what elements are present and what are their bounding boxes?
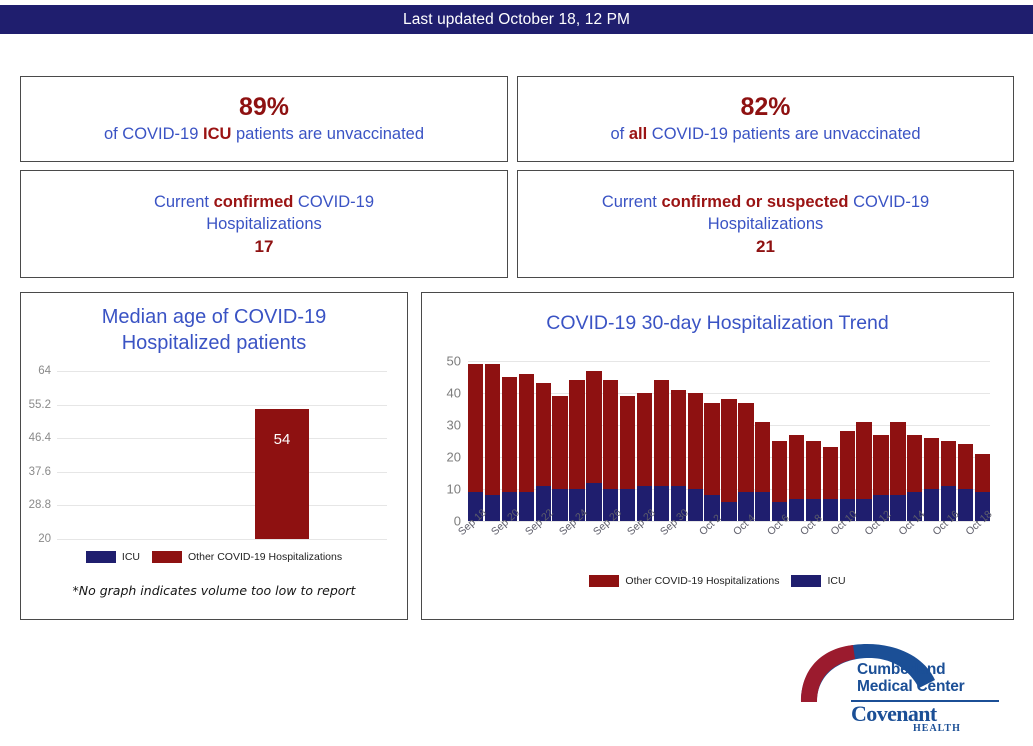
median-age-chart-title: Median age of COVID-19 Hospitalized pati…: [21, 293, 407, 356]
all-unvaccinated-label: of all COVID-19 patients are unvaccinate…: [610, 123, 920, 145]
bar-segment-other: [620, 396, 635, 489]
bar-segment-other: [468, 364, 483, 492]
trend-bars: [468, 361, 990, 521]
text-before: of: [610, 125, 628, 143]
trend-bar: [637, 393, 652, 521]
y-axis-tick-label: 30: [447, 418, 461, 433]
trend-bar: [772, 441, 787, 521]
trend-bar: [856, 422, 871, 521]
legend-swatch: [86, 551, 116, 563]
text-bold: all: [629, 125, 647, 143]
title-line1: Median age of COVID-19: [21, 305, 407, 331]
median-age-chart-panel: Median age of COVID-19 Hospitalized pati…: [20, 292, 408, 620]
hospitalization-trend-panel: COVID-19 30-day Hospitalization Trend 01…: [421, 292, 1014, 620]
bar-segment-other: [840, 431, 855, 498]
legend-entry: ICU: [791, 575, 845, 587]
bar-segment-other: [569, 380, 584, 489]
gridline: 64: [57, 371, 387, 372]
trend-bar: [688, 393, 703, 521]
trend-bar: [620, 396, 635, 521]
trend-x-axis-labels: Sep 18Sep 20Sep 22Sep 24Sep 26Sep 28Sep …: [468, 525, 990, 581]
trend-bar: [552, 396, 567, 521]
logo-name-line1: Cumberland: [857, 662, 1002, 679]
last-updated-banner: Last updated October 18, 12 PM: [0, 5, 1033, 34]
bar-segment-icu: [721, 502, 736, 521]
text-after: COVID-19: [848, 193, 929, 211]
bar-segment-other: [789, 435, 804, 499]
y-axis-tick-label: 28.8: [29, 499, 51, 511]
trend-bar: [755, 422, 770, 521]
bar-segment-other: [688, 393, 703, 489]
median-age-legend: ICUOther COVID-19 Hospitalizations: [21, 551, 407, 563]
trend-bar: [823, 447, 838, 521]
all-unvaccinated-value: 82%: [740, 93, 790, 122]
text-before: Current: [602, 193, 662, 211]
x-axis-slot: Oct 8: [806, 525, 821, 581]
x-axis-slot: Oct 10: [840, 525, 855, 581]
dashboard-page: Last updated October 18, 12 PM 89% of CO…: [0, 0, 1033, 746]
legend-entry: Other COVID-19 Hospitalizations: [152, 551, 342, 563]
x-axis-slot: Oct 6: [772, 525, 787, 581]
y-axis-tick-label: 40: [447, 386, 461, 401]
stat-card-confirmed-hospitalizations: Current confirmed COVID-19 Hospitalizati…: [20, 170, 508, 278]
bar-segment-other: [721, 399, 736, 501]
x-axis-slot: Sep 28: [637, 525, 652, 581]
x-axis-slot: Sep 30: [671, 525, 686, 581]
trend-chart-title: COVID-19 30-day Hospitalization Trend: [422, 293, 1013, 336]
text-before: of COVID-19: [104, 125, 203, 143]
x-axis-slot: Oct 2: [704, 525, 719, 581]
text-bold: ICU: [203, 125, 231, 143]
legend-label: Other COVID-19 Hospitalizations: [188, 551, 342, 563]
suspected-label-line2: Hospitalizations: [708, 213, 824, 235]
last-updated-text: Last updated October 18, 12 PM: [403, 11, 630, 29]
title-line2: Hospitalized patients: [21, 331, 407, 357]
y-axis-tick-label: 20: [38, 533, 51, 545]
trend-bar: [721, 399, 736, 521]
gridline: 28.8: [57, 505, 387, 506]
x-axis-slot: Sep 20: [502, 525, 517, 581]
bar-segment-other: [519, 374, 534, 492]
stat-card-all-unvaccinated: 82% of all COVID-19 patients are unvacci…: [517, 76, 1014, 162]
bar-segment-icu: [789, 499, 804, 521]
bar-segment-other: [704, 403, 719, 496]
bar-segment-other: [806, 441, 821, 499]
legend-entry: Other COVID-19 Hospitalizations: [589, 575, 779, 587]
trend-bar: [924, 438, 939, 521]
x-axis-slot: Sep 26: [603, 525, 618, 581]
bar-segment-other: [941, 441, 956, 486]
median-age-bar: 54: [255, 409, 309, 539]
trend-bar: [569, 380, 584, 521]
text-bold: confirmed or suspected: [661, 193, 848, 211]
trend-bar: [671, 390, 686, 521]
y-axis-tick-label: 37.6: [29, 466, 51, 478]
legend-label: Other COVID-19 Hospitalizations: [625, 575, 779, 587]
trend-bar: [468, 364, 483, 521]
trend-bar: [873, 435, 888, 521]
gridline: 55.2: [57, 405, 387, 406]
legend-entry: ICU: [86, 551, 140, 563]
trend-bar: [738, 403, 753, 521]
x-axis-slot: Sep 18: [468, 525, 483, 581]
confirmed-label-line1: Current confirmed COVID-19: [154, 191, 374, 213]
bar-segment-other: [755, 422, 770, 492]
x-axis-slot: Sep 22: [536, 525, 551, 581]
covenant-health-logo: Cumberland Medical Center Covenant HEALT…: [795, 640, 1000, 740]
trend-bar: [603, 380, 618, 521]
median-age-plot-area: 2028.837.646.455.26454: [57, 371, 387, 539]
trend-bar: [958, 444, 973, 521]
bar-segment-other: [485, 364, 500, 495]
text-bold: confirmed: [214, 193, 294, 211]
x-axis-slot: Oct 4: [738, 525, 753, 581]
x-axis-slot: Oct 16: [941, 525, 956, 581]
trend-plot-area: 01020304050: [468, 361, 990, 521]
legend-label: ICU: [122, 551, 140, 563]
x-axis-slot: Oct 14: [907, 525, 922, 581]
trend-legend: Other COVID-19 HospitalizationsICU: [422, 575, 1013, 587]
bar-segment-other: [654, 380, 669, 486]
bar-segment-icu: [755, 492, 770, 521]
text-after: COVID-19 patients are unvaccinated: [647, 125, 920, 143]
text-after: patients are unvaccinated: [231, 125, 424, 143]
bar-segment-other: [603, 380, 618, 489]
bar-segment-icu: [519, 492, 534, 521]
y-axis-tick-label: 10: [447, 482, 461, 497]
bar-segment-other: [975, 454, 990, 492]
y-axis-tick-label: 55.2: [29, 399, 51, 411]
stat-card-confirmed-or-suspected-hospitalizations: Current confirmed or suspected COVID-19 …: [517, 170, 1014, 278]
legend-swatch: [791, 575, 821, 587]
trend-bar: [536, 383, 551, 521]
bar-segment-other: [873, 435, 888, 496]
bar-segment-other: [907, 435, 922, 493]
trend-bar: [704, 403, 719, 521]
gridline: 20: [57, 539, 387, 540]
x-axis-slot: Oct 18: [975, 525, 990, 581]
bar-segment-icu: [485, 495, 500, 521]
confirmed-label-line2: Hospitalizations: [206, 213, 322, 235]
x-axis-slot: Oct 12: [873, 525, 888, 581]
legend-swatch: [152, 551, 182, 563]
icu-unvaccinated-value: 89%: [239, 93, 289, 122]
y-axis-tick-label: 20: [447, 450, 461, 465]
x-axis-slot: Sep 24: [569, 525, 584, 581]
bar-segment-other: [856, 422, 871, 499]
suspected-count: 21: [756, 237, 775, 257]
bar-segment-other: [772, 441, 787, 502]
bar-segment-other: [586, 371, 601, 483]
gridline: 37.6: [57, 472, 387, 473]
bar-segment-other: [823, 447, 838, 498]
confirmed-count: 17: [255, 237, 274, 257]
trend-bar: [586, 371, 601, 521]
median-age-footnote: *No graph indicates volume too low to re…: [21, 583, 407, 598]
y-axis-tick-label: 50: [447, 354, 461, 369]
stat-card-icu-unvaccinated: 89% of COVID-19 ICU patients are unvacci…: [20, 76, 508, 162]
icu-unvaccinated-label: of COVID-19 ICU patients are unvaccinate…: [104, 123, 424, 145]
bar-segment-other: [924, 438, 939, 489]
trend-bar: [840, 431, 855, 521]
y-axis-tick-label: 46.4: [29, 432, 51, 444]
logo-name-line2: Medical Center: [857, 679, 1002, 696]
bar-segment-other: [552, 396, 567, 489]
logo-brand-sub: HEALTH: [913, 723, 961, 734]
legend-swatch: [589, 575, 619, 587]
trend-bar: [806, 441, 821, 521]
bar-segment-other: [637, 393, 652, 486]
suspected-label-line1: Current confirmed or suspected COVID-19: [602, 191, 929, 213]
bar-segment-other: [502, 377, 517, 492]
trend-bar: [654, 380, 669, 521]
bar-segment-other: [958, 444, 973, 489]
bar-segment-other: [890, 422, 905, 496]
text-before: Current: [154, 193, 214, 211]
bar-segment-other: [671, 390, 686, 486]
y-axis-tick-label: 64: [38, 365, 51, 377]
trend-bar: [789, 435, 804, 521]
legend-label: ICU: [827, 575, 845, 587]
bar-segment-other: [738, 403, 753, 493]
gridline: 46.4: [57, 438, 387, 439]
text-after: COVID-19: [293, 193, 374, 211]
trend-bar: [519, 374, 534, 521]
bar-segment-other: [536, 383, 551, 485]
trend-bar: [502, 377, 517, 521]
trend-bar: [485, 364, 500, 521]
bar-segment-icu: [823, 499, 838, 521]
logo-name: Cumberland Medical Center: [857, 662, 1002, 695]
trend-bar: [890, 422, 905, 521]
